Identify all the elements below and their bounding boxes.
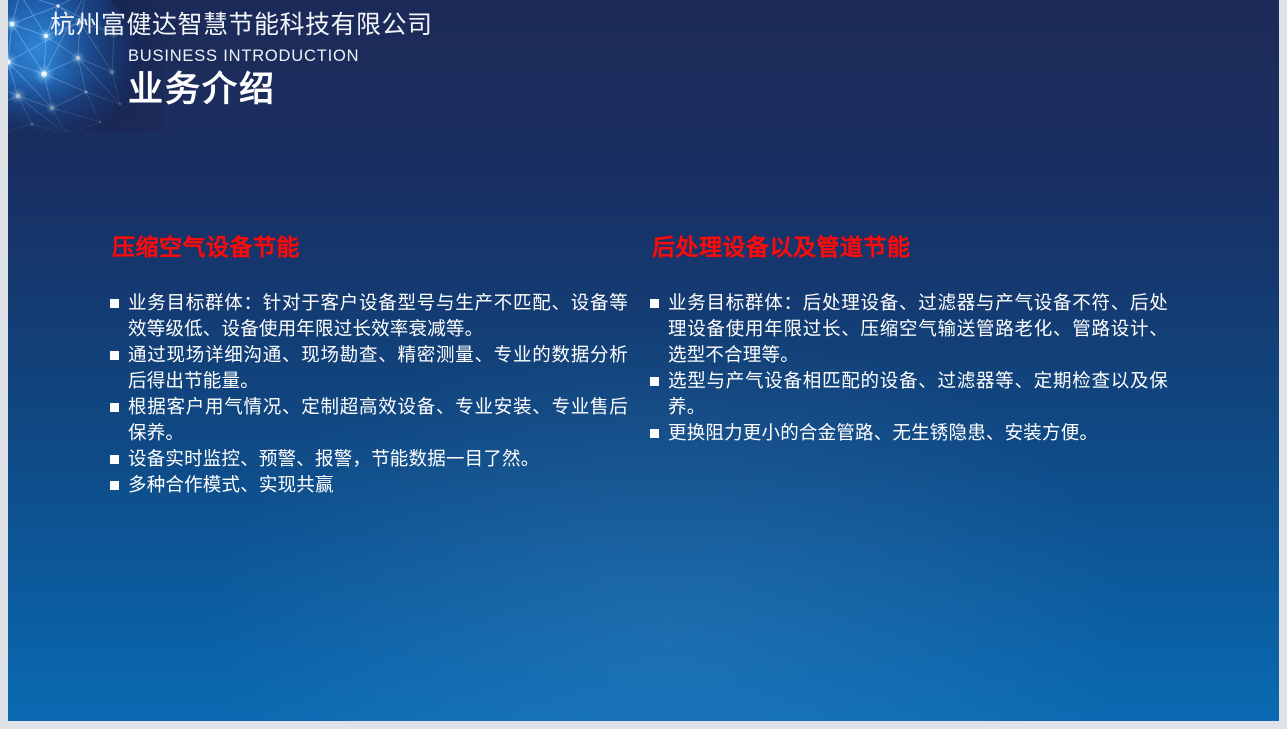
section-title-cn: 业务介绍 — [128, 68, 950, 112]
bullet-item: 业务目标群体：针对于客户设备型号与生产不匹配、设备等效等级低、设备使用年限过长效… — [108, 290, 628, 342]
bullet-item: 通过现场详细沟通、现场勘查、精密测量、专业的数据分析后得出节能量。 — [108, 342, 628, 394]
bullet-item: 根据客户用气情况、定制超高效设备、专业安装、专业售后保养。 — [108, 394, 628, 446]
column-heading: 压缩空气设备节能 — [112, 232, 628, 262]
bullet-item: 设备实时监控、预警、报警，节能数据一目了然。 — [108, 446, 628, 472]
slide-canvas: 杭州富健达智慧节能科技有限公司 BUSINESS INTRODUCTION 业务… — [8, 0, 1279, 721]
bullet-item: 更换阻力更小的合金管路、无生锈隐患、安装方便。 — [648, 420, 1168, 446]
slide-content: 压缩空气设备节能 业务目标群体：针对于客户设备型号与生产不匹配、设备等效等级低、… — [8, 132, 1279, 721]
bullet-item: 业务目标群体：后处理设备、过滤器与产气设备不符、后处理设备使用年限过长、压缩空气… — [648, 290, 1168, 368]
bullet-list: 业务目标群体：针对于客户设备型号与生产不匹配、设备等效等级低、设备使用年限过长效… — [108, 290, 628, 498]
slide-frame: 杭州富健达智慧节能科技有限公司 BUSINESS INTRODUCTION 业务… — [0, 0, 1287, 729]
column-heading: 后处理设备以及管道节能 — [652, 232, 1168, 262]
slide-header: 杭州富健达智慧节能科技有限公司 BUSINESS INTRODUCTION 业务… — [8, 0, 1279, 132]
bullet-item: 多种合作模式、实现共赢 — [108, 472, 628, 498]
section-subtitle-en: BUSINESS INTRODUCTION — [128, 46, 950, 66]
header-text-block: 杭州富健达智慧节能科技有限公司 BUSINESS INTRODUCTION 业务… — [50, 10, 950, 112]
bullet-list: 业务目标群体：后处理设备、过滤器与产气设备不符、后处理设备使用年限过长、压缩空气… — [648, 290, 1168, 446]
bullet-item: 选型与产气设备相匹配的设备、过滤器等、定期检查以及保养。 — [648, 368, 1168, 420]
content-column-left: 压缩空气设备节能 业务目标群体：针对于客户设备型号与生产不匹配、设备等效等级低、… — [108, 232, 628, 498]
content-column-right: 后处理设备以及管道节能 业务目标群体：后处理设备、过滤器与产气设备不符、后处理设… — [648, 232, 1168, 446]
company-name: 杭州富健达智慧节能科技有限公司 — [50, 10, 950, 40]
